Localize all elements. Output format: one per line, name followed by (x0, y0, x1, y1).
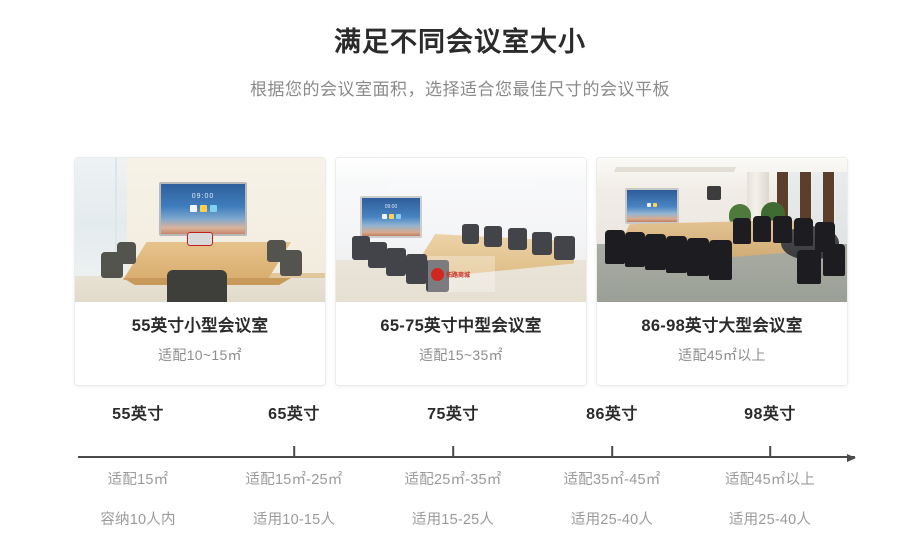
card-body: 55英寸小型会议室 适配10~15㎡ (75, 302, 325, 385)
display-clock-label: 09:00 (161, 193, 245, 200)
timeline-tick-label: 65英寸 (268, 400, 320, 424)
spec-cell-people: 适用25-40人 (571, 508, 653, 529)
wall-display-icon (625, 188, 679, 224)
small-room-scene: 09:00 (75, 158, 325, 302)
spec-rows: 适配15㎡ 适配15㎡-25㎡ 适配25㎡-35㎡ 适配35㎡-45㎡ 适配45… (0, 468, 920, 548)
timeline-tick-label: 86英寸 (586, 400, 638, 424)
timeline-tick-label: 98英寸 (744, 400, 796, 424)
spec-cell-people: 适用15-25人 (412, 508, 494, 529)
header: 满足不同会议室大小 根据您的会议室面积，选择适合您最佳尺寸的会议平板 (0, 0, 920, 101)
timeline-tick-label: 55英寸 (112, 400, 164, 424)
page-subtitle: 根据您的会议室面积，选择适合您最佳尺寸的会议平板 (0, 80, 920, 100)
wall-display-icon: 09:00 (159, 182, 247, 236)
room-size-card[interactable]: 09:00 55英寸小型会议室 适配10~15㎡ (75, 158, 325, 385)
spec-row-people: 容纳10人内 适用10-15人 适用15-25人 适用25-40人 适用25-4… (0, 508, 920, 548)
room-size-card[interactable]: 09:00 (336, 158, 586, 385)
card-body: 86-98英寸大型会议室 适配45㎡以上 (597, 302, 847, 385)
timeline-axis (78, 445, 855, 459)
medium-meeting-room-photo: 09:00 (336, 158, 586, 302)
axis-tick (769, 446, 771, 457)
medium-room-scene: 09:00 (336, 158, 586, 302)
card-subtitle: 适配45㎡以上 (603, 346, 841, 364)
ceiling-speaker-icon (707, 186, 721, 200)
axis-arrow-icon (847, 454, 856, 462)
room-size-card[interactable]: 86-98英寸大型会议室 适配45㎡以上 (597, 158, 847, 385)
watermark-badge-icon (431, 268, 444, 281)
spec-cell-people: 适用25-40人 (729, 508, 811, 529)
watermark: 拓路商城 (428, 256, 495, 292)
size-timeline: 55英寸 65英寸 75英寸 86英寸 98英寸 适配15㎡ 适配15㎡-25㎡… (0, 400, 920, 428)
room-size-card-list: 09:00 55英寸小型会议室 适配10~15㎡ (75, 158, 847, 385)
card-title: 65-75英寸中型会议室 (342, 316, 580, 337)
spec-cell-people: 容纳10人内 (100, 508, 175, 529)
timeline-tick-label: 75英寸 (427, 400, 479, 424)
axis-tick (452, 446, 454, 457)
spec-cell-area: 适配15㎡-25㎡ (246, 468, 343, 489)
timeline-tick-labels: 55英寸 65英寸 75英寸 86英寸 98英寸 (0, 400, 920, 428)
spec-row-area: 适配15㎡ 适配15㎡-25㎡ 适配25㎡-35㎡ 适配35㎡-45㎡ 适配45… (0, 468, 920, 508)
spec-cell-area: 适配45㎡以上 (725, 468, 815, 489)
small-meeting-room-photo: 09:00 (75, 158, 325, 302)
card-subtitle: 适配10~15㎡ (81, 346, 319, 364)
card-subtitle: 适配15~35㎡ (342, 346, 580, 364)
spec-cell-people: 适用10-15人 (253, 508, 335, 529)
axis-line (78, 456, 855, 458)
card-title: 55英寸小型会议室 (81, 316, 319, 337)
spec-cell-area: 适配35㎡-45㎡ (564, 468, 661, 489)
axis-tick (611, 446, 613, 457)
large-room-scene (597, 158, 847, 302)
spec-cell-area: 适配25㎡-35㎡ (405, 468, 502, 489)
spec-cell-area: 适配15㎡ (108, 468, 169, 489)
watermark-text: 拓路商城 (446, 270, 470, 279)
axis-tick (293, 446, 295, 457)
page-title: 满足不同会议室大小 (0, 26, 920, 58)
card-title: 86-98英寸大型会议室 (603, 316, 841, 337)
display-clock-label: 09:00 (362, 204, 420, 210)
page-root: 满足不同会议室大小 根据您的会议室面积，选择适合您最佳尺寸的会议平板 09:00 (0, 0, 920, 554)
large-meeting-room-photo (597, 158, 847, 302)
card-body: 65-75英寸中型会议室 适配15~35㎡ (336, 302, 586, 385)
